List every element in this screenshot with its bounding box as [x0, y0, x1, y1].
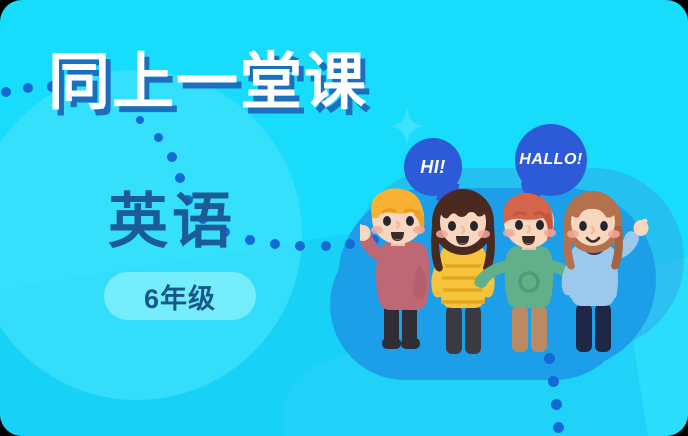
- path-dot: [295, 241, 305, 251]
- path-dot: [1, 87, 11, 97]
- path-dot: [136, 116, 144, 124]
- page-title: 同上一堂课: [48, 52, 368, 114]
- path-dot: [345, 239, 355, 249]
- path-dot: [548, 376, 559, 387]
- path-dot: [553, 422, 564, 433]
- grade-badge-label: 6年级: [144, 277, 216, 316]
- character-boy-blonde-waving: [360, 188, 430, 349]
- path-dot: [245, 235, 255, 245]
- path-dot: [167, 152, 177, 162]
- character-girl-lightbrown-waving: [562, 191, 649, 352]
- children-illustration: [360, 186, 672, 356]
- path-dot: [321, 241, 331, 251]
- grade-badge: 6年级: [104, 272, 256, 320]
- speech-bubble-hi-text: HI!: [420, 157, 446, 178]
- path-dot: [23, 83, 33, 93]
- course-card: 同上一堂课 英语 6年级 HI! HALLO!: [0, 0, 688, 436]
- path-dot: [154, 133, 163, 142]
- path-dot: [551, 399, 562, 410]
- path-dot: [175, 173, 185, 183]
- speech-bubble-hallo-text: HALLO!: [519, 151, 582, 169]
- subject-title: 英语: [108, 192, 236, 252]
- path-dot: [270, 239, 280, 249]
